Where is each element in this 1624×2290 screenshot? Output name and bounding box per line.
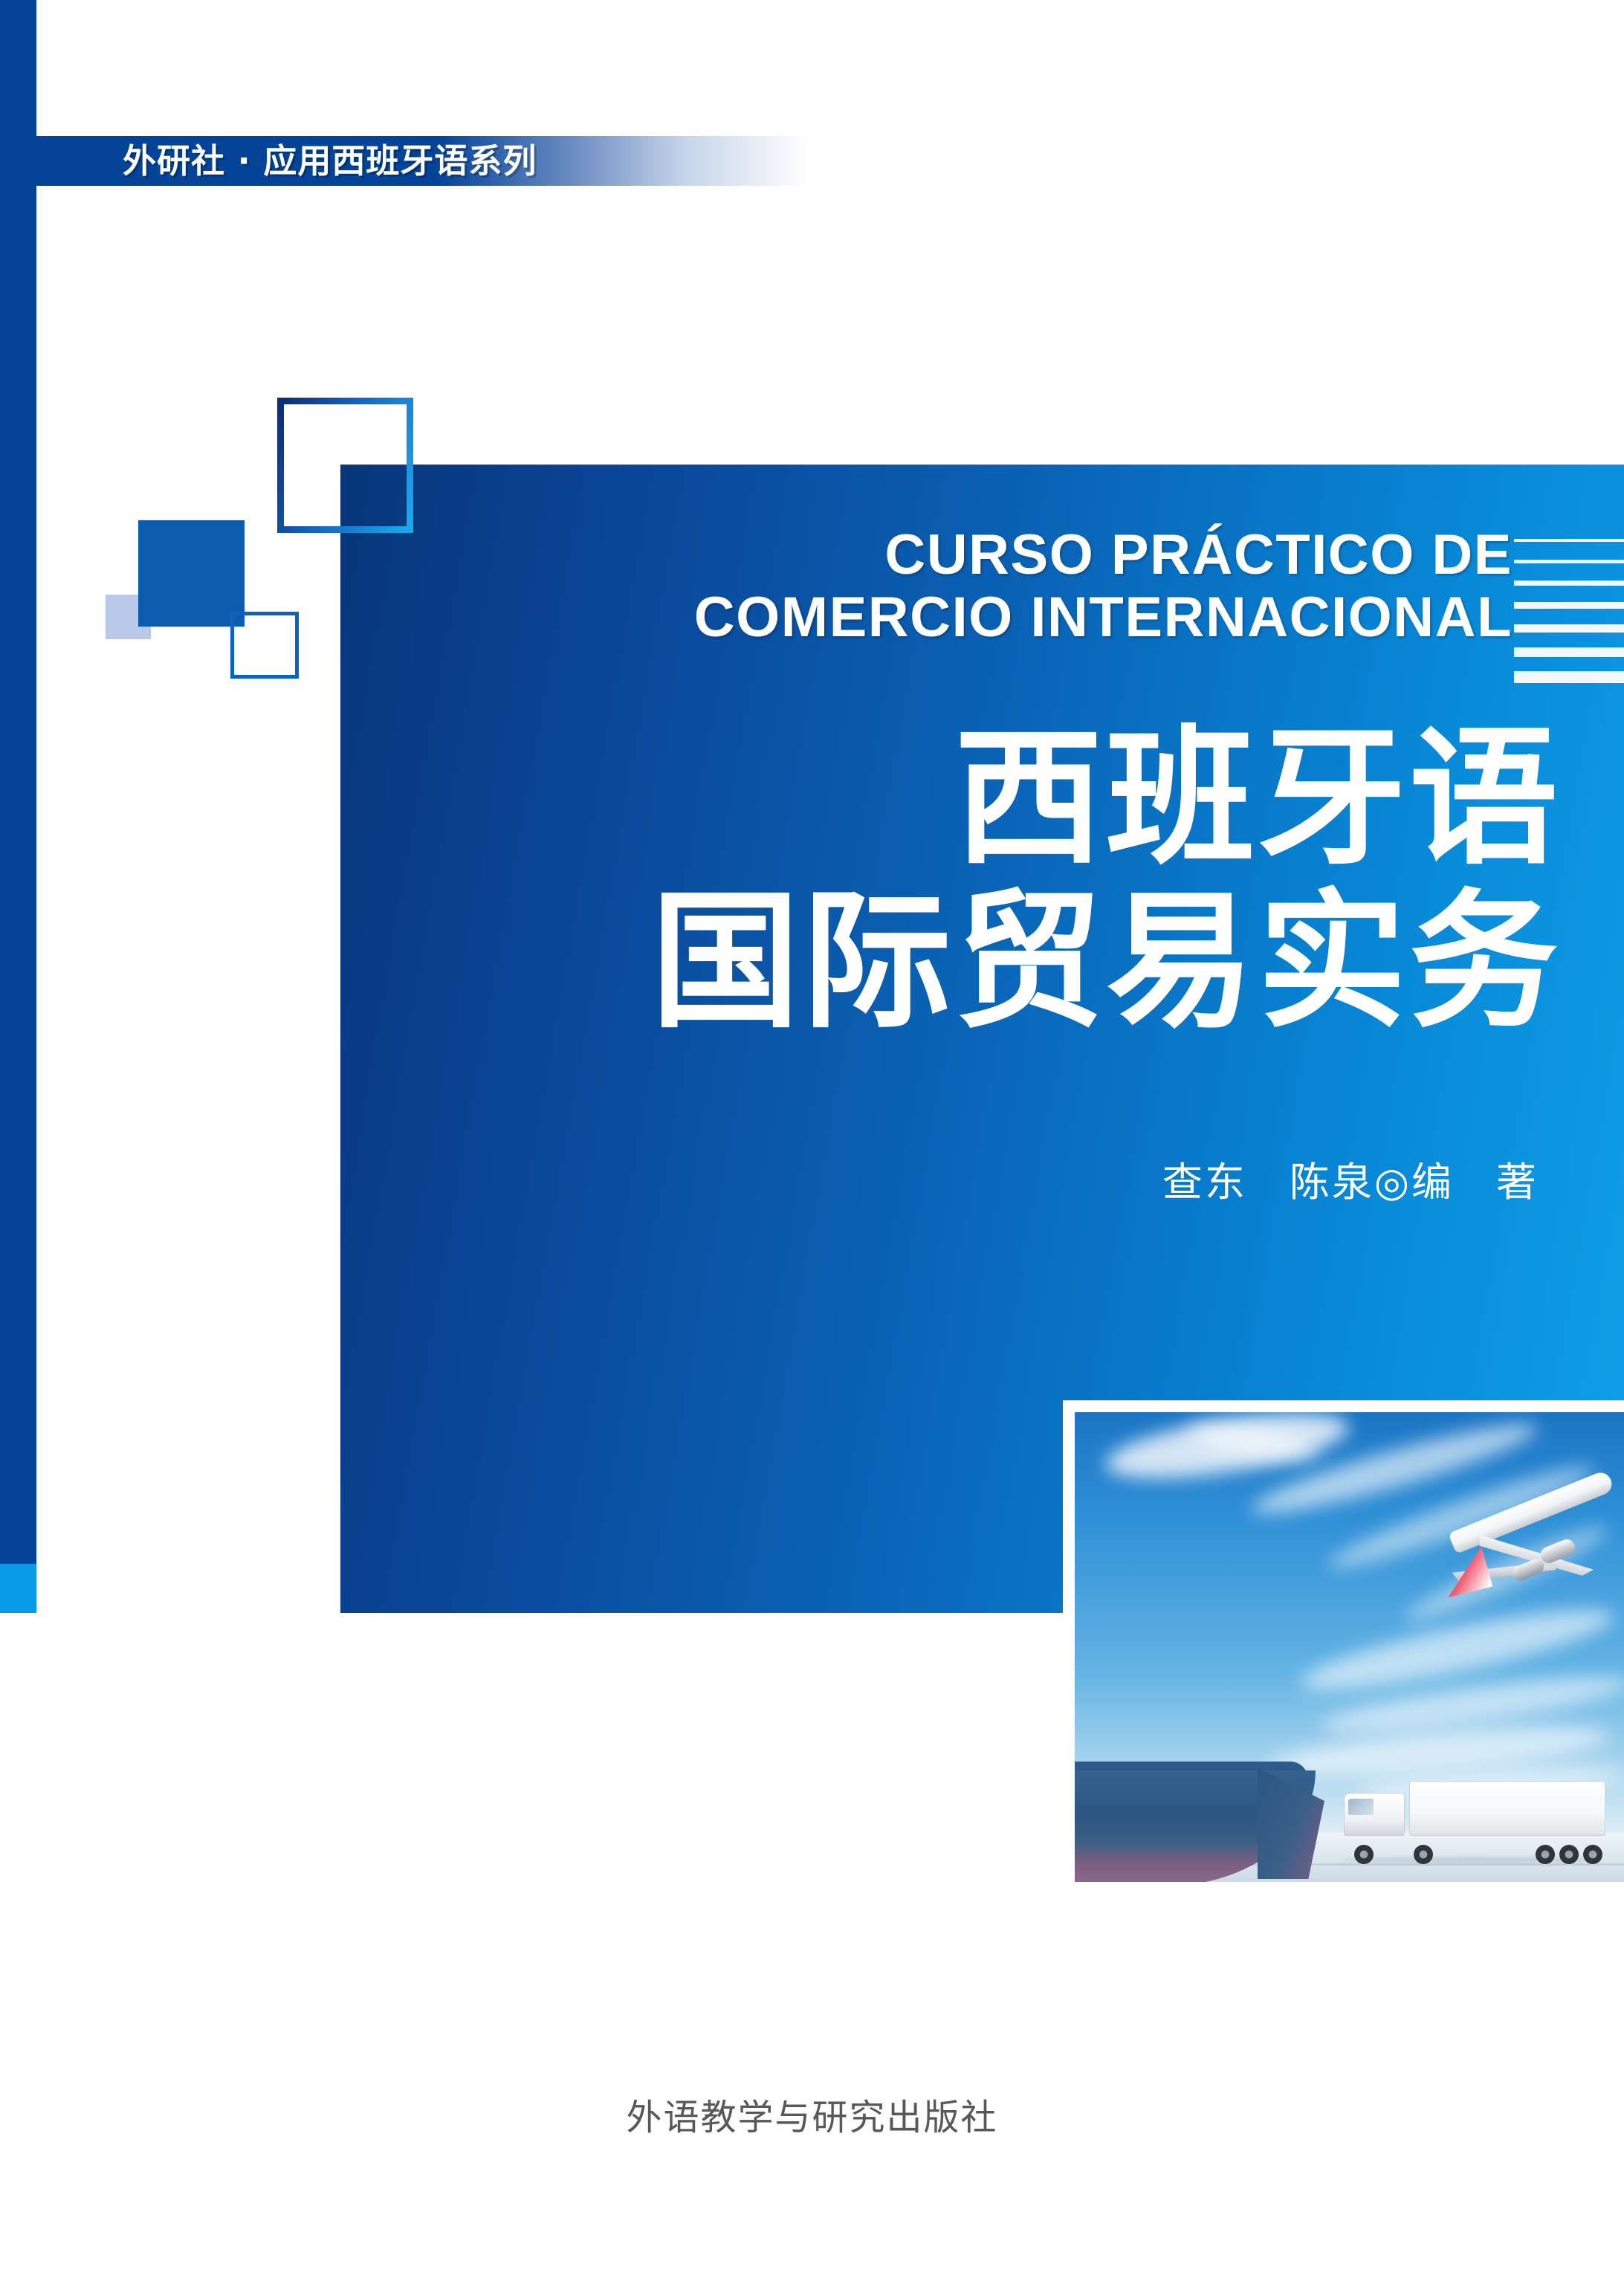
truck-wheel bbox=[1536, 1845, 1555, 1864]
cover-photo-frame bbox=[1063, 1400, 1624, 1882]
publisher-name: 外语教学与研究出版社 bbox=[0, 2096, 1624, 2139]
airplane-engine bbox=[1510, 1556, 1546, 1582]
truck-wheel bbox=[1414, 1845, 1433, 1864]
airplane-icon bbox=[1394, 1494, 1624, 1628]
left-accent-bar-cyan-cap bbox=[0, 1564, 36, 1613]
decor-square-outline-small bbox=[230, 612, 299, 679]
truck-window bbox=[1348, 1799, 1374, 1815]
truck-wheel bbox=[1583, 1845, 1602, 1864]
cover-photo-logistics bbox=[1075, 1412, 1624, 1882]
spanish-title-line-1: CURSO PRÁCTICO DE bbox=[884, 523, 1513, 586]
cargo-truck bbox=[1336, 1776, 1605, 1864]
book-cover: 外研社 · 应用西班牙语系列 CURSO PRÁCTICO DE COMERCI… bbox=[0, 0, 1624, 2290]
left-accent-bar bbox=[0, 0, 36, 1564]
series-banner-label: 外研社 · 应用西班牙语系列 bbox=[123, 138, 537, 184]
bottom-stripes-left bbox=[0, 1613, 340, 2290]
chinese-title: 西班牙语 国际贸易实务 bbox=[340, 717, 1624, 1044]
spanish-title: CURSO PRÁCTICO DE COMERCIO INTERNACIONAL bbox=[340, 524, 1624, 649]
author-line: 查东 陈泉◎编 著 bbox=[340, 1159, 1624, 1206]
truck-trailer bbox=[1409, 1781, 1605, 1836]
truck-wheel bbox=[1559, 1845, 1579, 1864]
spanish-title-line-2: COMERCIO INTERNACIONAL bbox=[694, 586, 1513, 649]
airplane-tail bbox=[1437, 1547, 1492, 1600]
decor-rule bbox=[1514, 671, 1624, 683]
decor-square-filled-blue bbox=[138, 520, 245, 627]
chinese-title-line-1: 西班牙语 bbox=[340, 717, 1561, 881]
chinese-title-line-2: 国际贸易实务 bbox=[340, 881, 1561, 1044]
decor-square-outline-large bbox=[277, 398, 413, 533]
shipping-containers-stack bbox=[1075, 1561, 1298, 1769]
truck-wheel bbox=[1354, 1845, 1374, 1864]
